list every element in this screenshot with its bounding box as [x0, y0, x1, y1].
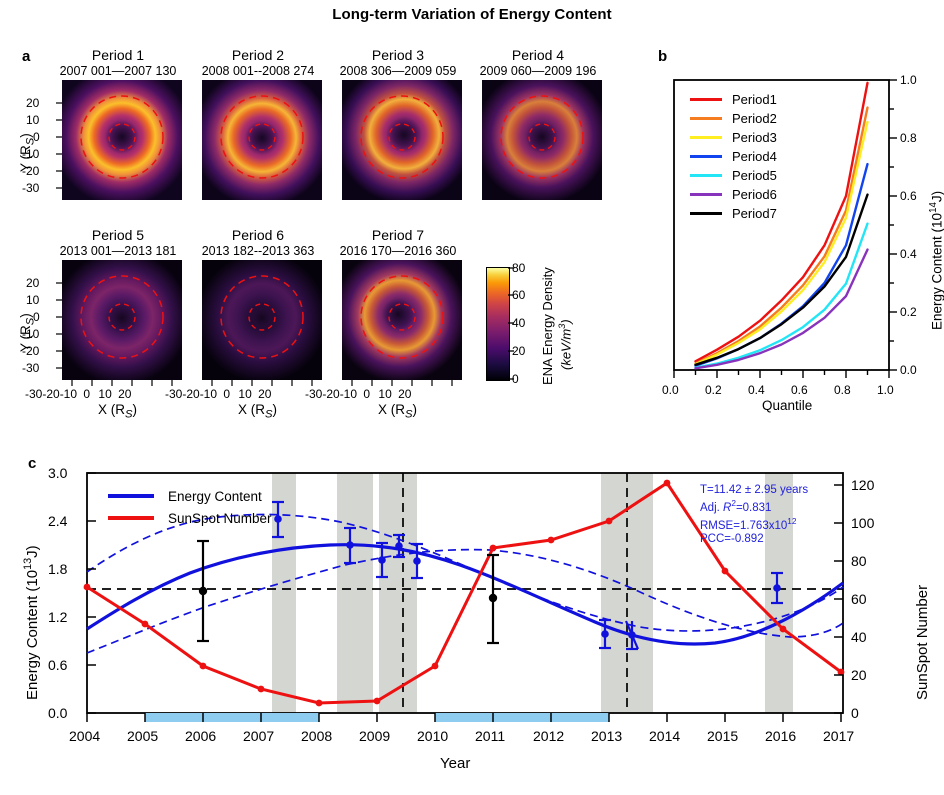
c-xtick-2010: 2010	[417, 730, 448, 742]
b-ytick-1.0: 1.0	[900, 74, 917, 86]
b-xaxis-label: Quantile	[762, 398, 812, 413]
stats-line-adjr2: Adj. R2=0.831	[700, 497, 808, 515]
c-xaxis-label: Year	[440, 755, 470, 772]
legend-swatch-energy-content	[108, 494, 154, 498]
map-dates-7: 2016 170—2016 360	[320, 244, 476, 258]
c-xtick-2017: 2017	[823, 730, 854, 742]
legend-swatch-period7	[690, 212, 722, 215]
map-title-7: Period 7	[328, 228, 468, 243]
b-xtick-0.6: 0.6	[791, 384, 808, 396]
map-title-4: Period 4	[468, 48, 608, 63]
ena-map-4	[482, 80, 602, 200]
map-dates-4: 2009 060—2009 196	[460, 64, 616, 78]
map-dates-6: 2013 182--2013 363	[180, 244, 336, 258]
stats-line-period: T=11.42 ± 2.95 years	[700, 484, 808, 497]
map-xlabel-6: X (RS)	[238, 402, 277, 421]
map-dates-1: 2007 001—2007 130	[40, 64, 196, 78]
c-y2tick-120: 120	[851, 479, 874, 491]
legend-label-period1: Period1	[732, 93, 777, 106]
ena-map-7	[342, 260, 462, 380]
panel-b-chart	[644, 60, 944, 420]
panel-label-a: a	[22, 48, 30, 65]
legend-label-period4: Period4	[732, 150, 777, 163]
b-xtick-0.0: 0.0	[662, 384, 679, 396]
c-ytick-3.0: 3.0	[48, 467, 67, 479]
b-xtick-0.2: 0.2	[705, 384, 722, 396]
legend-swatch-period5	[690, 174, 722, 177]
c-xtick-2004: 2004	[69, 730, 100, 742]
map-title-2: Period 2	[188, 48, 328, 63]
c-yaxis-label: Energy Content (1013J)	[22, 545, 41, 700]
legend-swatch-sunspot	[108, 516, 154, 520]
b-ytick-0.6: 0.6	[900, 190, 917, 202]
legend-item-period1[interactable]: Period1	[690, 90, 777, 109]
c-y2tick-100: 100	[851, 517, 874, 529]
legend-item-period5[interactable]: Period5	[690, 166, 777, 185]
ena-map-1	[62, 80, 182, 200]
colorbar-tick-0: 0	[512, 373, 519, 385]
ena-map-5	[62, 260, 182, 380]
c-xtick-2012: 2012	[533, 730, 564, 742]
legend-label-period7: Period7	[732, 207, 777, 220]
c-ytick-1.8: 1.8	[48, 563, 67, 575]
c-ytick-2.4: 2.4	[48, 515, 67, 527]
b-ytick-0.2: 0.2	[900, 306, 917, 318]
colorbar-tick-60: 60	[512, 289, 525, 301]
legend-item-period7[interactable]: Period7	[690, 204, 777, 223]
panel-b-legend: Period1 Period2 Period3 Period4 Period5 …	[690, 90, 777, 223]
figure-title: Long-term Variation of Energy Content	[0, 6, 944, 23]
map-dates-2: 2008 001--2008 274	[180, 64, 336, 78]
b-ytick-0.8: 0.8	[900, 132, 917, 144]
b-yaxis-label: Energy Content (1014J)	[928, 191, 944, 330]
c-ytick-1.2: 1.2	[48, 611, 67, 623]
c-ytick-0.0: 0.0	[48, 707, 67, 719]
map-title-3: Period 3	[328, 48, 468, 63]
colorbar-tick-40: 40	[512, 317, 525, 329]
legend-item-period4[interactable]: Period4	[690, 147, 777, 166]
legend-label-energy-content: Energy Content	[168, 489, 262, 504]
c-xtick-2015: 2015	[707, 730, 738, 742]
map-title-5: Period 5	[48, 228, 188, 243]
colorbar-title-line2: (keV/m3)	[557, 319, 573, 370]
legend-item-energy-content[interactable]: Energy Content	[108, 485, 272, 507]
map-ytick-20: 20	[26, 97, 39, 109]
figure-root: Long-term Variation of Energy Content a …	[0, 0, 944, 789]
ena-map-3	[342, 80, 462, 200]
c-xtick-2006: 2006	[185, 730, 216, 742]
legend-item-period3[interactable]: Period3	[690, 128, 777, 147]
c-xtick-2005: 2005	[127, 730, 158, 742]
colorbar-tick-20: 20	[512, 345, 525, 357]
legend-item-period2[interactable]: Period2	[690, 109, 777, 128]
legend-label-period3: Period3	[732, 131, 777, 144]
c-y2tick-0: 0	[851, 707, 859, 719]
map2-ytick-20: 20	[26, 277, 39, 289]
coverage-bar-1	[145, 713, 319, 722]
coverage-bar-2	[435, 713, 609, 722]
map-ylabel-row2: Y (RS)	[18, 313, 37, 352]
legend-swatch-period2	[690, 117, 722, 120]
legend-label-period2: Period2	[732, 112, 777, 125]
c-y2tick-60: 60	[851, 593, 867, 605]
legend-item-period6[interactable]: Period6	[690, 185, 777, 204]
b-ytick-0.0: 0.0	[900, 364, 917, 376]
map-ytick-m30: -30	[22, 182, 39, 194]
legend-swatch-period1	[690, 98, 722, 101]
energy-content-fit	[87, 545, 843, 644]
map-dates-3: 2008 306—2009 059	[320, 64, 476, 78]
legend-item-sunspot[interactable]: SunSpot Number	[108, 507, 272, 529]
c-y2tick-20: 20	[851, 669, 867, 681]
map-xticks-6: -30-20-10 0 10 20	[165, 388, 271, 400]
c-xtick-2008: 2008	[301, 730, 332, 742]
map-ylabel-row1: Y (RS)	[18, 133, 37, 172]
b-xtick-0.4: 0.4	[748, 384, 765, 396]
b-xtick-0.8: 0.8	[834, 384, 851, 396]
map-xlabel-5: X (RS)	[98, 402, 137, 421]
map-title-1: Period 1	[48, 48, 188, 63]
c-ytick-0.6: 0.6	[48, 659, 67, 671]
legend-swatch-period3	[690, 136, 722, 139]
legend-swatch-period6	[690, 193, 722, 196]
legend-label-period6: Period6	[732, 188, 777, 201]
map-xlabel-7: X (RS)	[378, 402, 417, 421]
map-dates-5: 2013 001—2013 181	[40, 244, 196, 258]
stats-line-pcc: PCC=-0.892	[700, 533, 808, 546]
legend-label-sunspot: SunSpot Number	[168, 511, 272, 526]
stats-line-rmse: RMSE=1.763x1012	[700, 515, 808, 533]
c-y2tick-40: 40	[851, 631, 867, 643]
map-xticks-5: -30-20-10 0 10 20	[25, 388, 131, 400]
c-xtick-2014: 2014	[649, 730, 680, 742]
colorbar-title-line1: ENA Energy Density	[540, 267, 555, 385]
b-ytick-0.4: 0.4	[900, 248, 917, 260]
map-ytick-10: 10	[26, 114, 39, 126]
ena-map-2	[202, 80, 322, 200]
colorbar	[486, 267, 510, 381]
map2-ytick-m30: -30	[22, 362, 39, 374]
ena-map-6	[202, 260, 322, 380]
colorbar-tick-80: 80	[512, 262, 525, 274]
panel-c-stats: T=11.42 ± 2.95 years Adj. R2=0.831 RMSE=…	[700, 484, 808, 546]
c-y2tick-80: 80	[851, 555, 867, 567]
c-xtick-2009: 2009	[359, 730, 390, 742]
panel-c-legend: Energy Content SunSpot Number	[108, 485, 272, 529]
c-xtick-2016: 2016	[765, 730, 796, 742]
c-xtick-2007: 2007	[243, 730, 274, 742]
c-y2axis-label: SunSpot Number	[914, 585, 931, 700]
map-title-6: Period 6	[188, 228, 328, 243]
c-xtick-2011: 2011	[475, 730, 505, 742]
legend-swatch-period4	[690, 155, 722, 158]
legend-label-period5: Period5	[732, 169, 777, 182]
c-xtick-2013: 2013	[591, 730, 622, 742]
map2-ytick-10: 10	[26, 294, 39, 306]
map-xticks-7: -30-20-10 0 10 20	[305, 388, 411, 400]
b-xtick-1.0: 1.0	[877, 384, 894, 396]
